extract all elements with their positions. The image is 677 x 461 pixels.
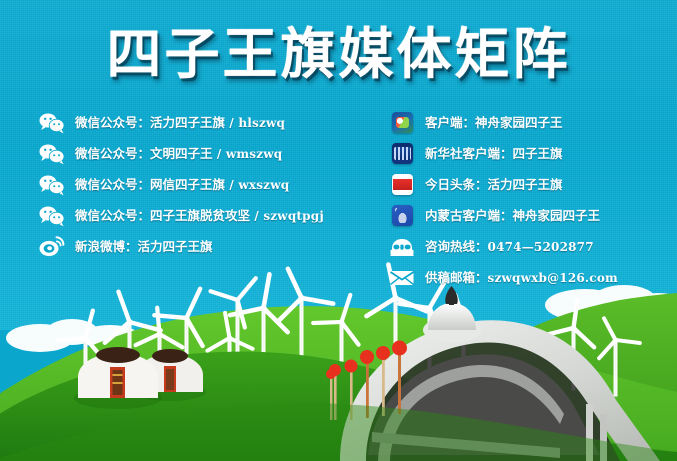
- wechat-icon: [38, 204, 66, 228]
- contact-label: 微信公众号：网信四子王旗 / wxszwq: [75, 177, 289, 193]
- contact-row-inner-mongolia-app[interactable]: 内蒙古客户端：神舟家园四子王: [388, 201, 673, 230]
- contact-label: 咨询热线：0474—5202877: [425, 239, 594, 255]
- right-contact-column: 客户端：神舟家园四子王 新华社客户端：四子王旗 今日头条：活力四子王旗 内蒙古客…: [388, 108, 673, 294]
- wechat-icon: [38, 111, 66, 135]
- envelope-icon: [388, 266, 416, 290]
- media-matrix-poster: 四子王旗媒体矩阵 微信公众号：活力四子王旗 / hlszwq: [0, 0, 677, 461]
- contact-label: 今日头条：活力四子王旗: [425, 177, 563, 193]
- shenzhou-app-icon: [388, 111, 416, 135]
- contact-label: 内蒙古客户端：神舟家园四子王: [425, 208, 600, 224]
- wechat-icon: [38, 142, 66, 166]
- contact-label: 新华社客户端：四子王旗: [425, 146, 563, 162]
- xinhua-app-icon: [388, 142, 416, 166]
- contact-label: 供稿邮箱：szwqwxb@126.com: [425, 270, 618, 286]
- contact-label: 客户端：神舟家园四子王: [425, 115, 563, 131]
- wechat-icon: [38, 173, 66, 197]
- contact-row-wechat-1[interactable]: 微信公众号：活力四子王旗 / hlszwq: [38, 108, 383, 137]
- left-contact-column: 微信公众号：活力四子王旗 / hlszwq 微信公众号：文明四子王 / wmsz…: [38, 108, 383, 263]
- contact-row-xinhua-app[interactable]: 新华社客户端：四子王旗: [388, 139, 673, 168]
- contact-row-wechat-2[interactable]: 微信公众号：文明四子王 / wmszwq: [38, 139, 383, 168]
- contact-row-wechat-3[interactable]: 微信公众号：网信四子王旗 / wxszwq: [38, 170, 383, 199]
- contact-row-weibo[interactable]: 新浪微博：活力四子王旗: [38, 232, 383, 261]
- inner-mongolia-app-icon: [388, 204, 416, 228]
- contact-label: 新浪微博：活力四子王旗: [75, 239, 213, 255]
- contact-row-wechat-4[interactable]: 微信公众号：四子王旗脱贫攻坚 / szwqtpgj: [38, 201, 383, 230]
- contact-label: 微信公众号：四子王旗脱贫攻坚 / szwqtpgj: [75, 208, 324, 224]
- contact-row-shenzhou-app[interactable]: 客户端：神舟家园四子王: [388, 108, 673, 137]
- contact-row-email[interactable]: 供稿邮箱：szwqwxb@126.com: [388, 263, 673, 292]
- contact-row-toutiao-app[interactable]: 今日头条：活力四子王旗: [388, 170, 673, 199]
- contact-label: 微信公众号：活力四子王旗 / hlszwq: [75, 115, 285, 131]
- toutiao-app-icon: [388, 173, 416, 197]
- telephone-icon: [388, 235, 416, 259]
- page-title: 四子王旗媒体矩阵: [0, 21, 677, 87]
- contact-label: 微信公众号：文明四子王 / wmszwq: [75, 146, 282, 162]
- weibo-icon: [38, 235, 66, 259]
- contact-row-hotline[interactable]: 咨询热线：0474—5202877: [388, 232, 673, 261]
